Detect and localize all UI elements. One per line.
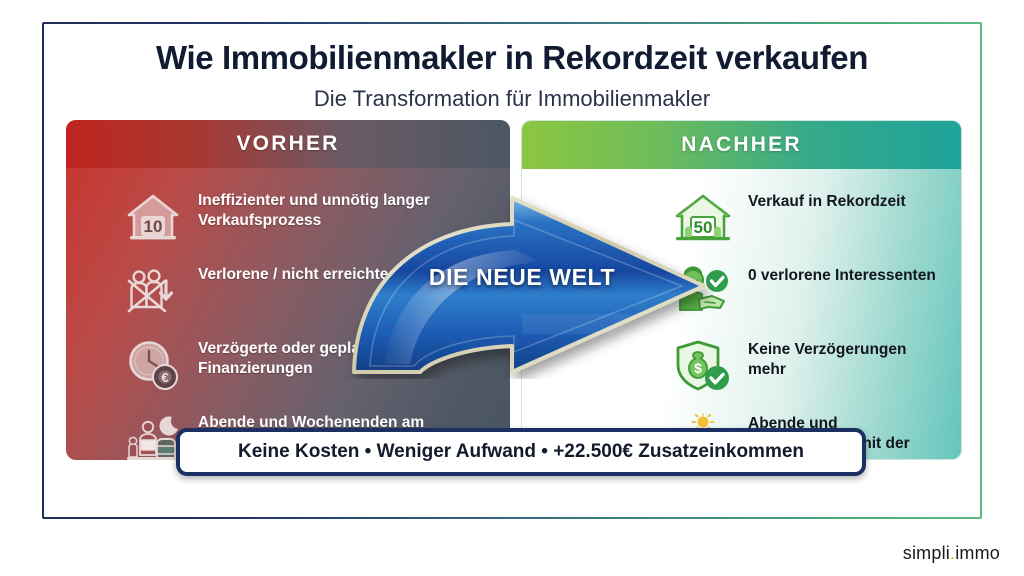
svg-text:10: 10 xyxy=(144,217,163,236)
list-item-label: Ineffizienter und unnötig langer Verkauf… xyxy=(198,188,496,231)
value-banner-text: Keine Kosten • Weniger Aufwand • +22.500… xyxy=(238,441,804,463)
night-laptop-couch-icon xyxy=(122,410,184,460)
brand-name-part2: immo xyxy=(955,543,1000,563)
panel-after-header: NACHHER xyxy=(522,121,961,169)
page-title: Wie Immobilienmakler in Rekordzeit verka… xyxy=(44,39,980,77)
panel-after-items: 50 Verkauf in Rekordzeit xyxy=(522,169,961,460)
clock-euro-gear-icon: € xyxy=(122,336,184,394)
list-item: 50 Verkauf in Rekordzeit xyxy=(522,183,961,257)
panel-before-header: VORHER xyxy=(66,120,510,168)
list-item: € Verzögerte oder geplatzte Finanzierung… xyxy=(66,330,510,404)
value-banner: Keine Kosten • Weniger Aufwand • +22.500… xyxy=(176,428,866,476)
brand-name-part1: simpli xyxy=(903,543,950,563)
list-item-label: Keine Verzögerungen mehr xyxy=(748,337,947,380)
brand-logo: simpli.immo xyxy=(903,543,1000,564)
list-item: 10 Ineffizienter und unnötig langer Verk… xyxy=(66,182,510,256)
svg-text:$: $ xyxy=(694,360,702,376)
list-item-label: Verlorene / nicht erreichte Interessente… xyxy=(198,262,493,285)
list-item: 0 verlorene Interessenten xyxy=(522,257,961,331)
svg-text:50: 50 xyxy=(694,218,713,237)
shield-money-check-icon: $ xyxy=(672,337,734,395)
svg-text:€: € xyxy=(161,370,168,385)
list-item-label: Verkauf in Rekordzeit xyxy=(748,189,906,212)
panel-after: NACHHER 50 Verkauf in Rekordzeit xyxy=(521,120,962,460)
panel-before: VORHER 10 Ineffizienter und unnötig lang… xyxy=(66,120,510,460)
page-subtitle: Die Transformation für Immobilienmakler xyxy=(44,86,980,112)
lost-leads-crossed-icon xyxy=(122,262,184,320)
list-item: Verlorene / nicht erreichte Interessente… xyxy=(66,256,510,330)
list-item-label: 0 verlorene Interessenten xyxy=(748,263,936,286)
infographic-frame: Wie Immobilienmakler in Rekordzeit verka… xyxy=(42,22,982,519)
list-item-label: Verzögerte oder geplatzte Finanzierungen xyxy=(198,336,496,379)
list-item: $ Keine Verzögerungen mehr xyxy=(522,331,961,405)
panel-before-items: 10 Ineffizienter und unnötig langer Verk… xyxy=(66,168,510,460)
infographic-canvas: Wie Immobilienmakler in Rekordzeit verka… xyxy=(44,24,980,517)
house-50-icon: 50 xyxy=(672,189,734,247)
house-10-icon: 10 xyxy=(122,188,184,246)
handshake-check-icon xyxy=(672,263,734,321)
